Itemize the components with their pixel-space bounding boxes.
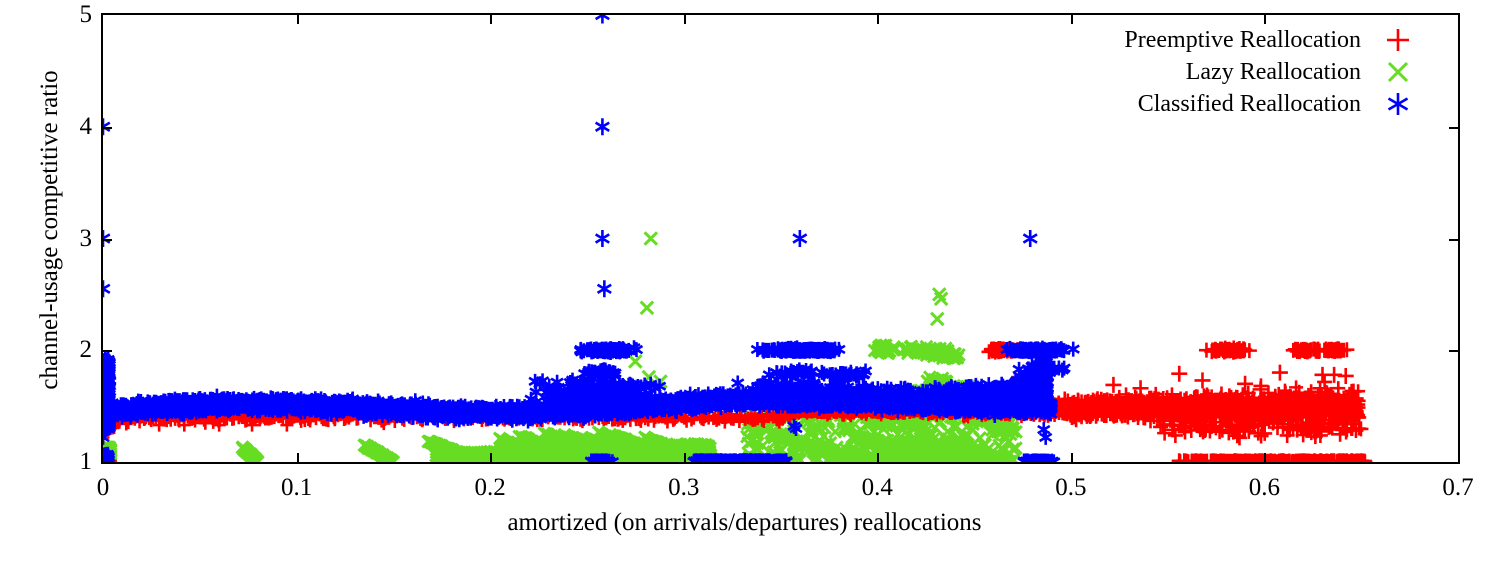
legend-entry-label: Classified Reallocation <box>1138 91 1361 118</box>
x-tick-mark <box>297 15 299 24</box>
y-tick-label: 5 <box>80 1 93 29</box>
chart-root: 12345 channel-usage competitive ratio 00… <box>0 0 1489 562</box>
legend-entry-label: Lazy Reallocation <box>1186 59 1361 86</box>
x-tick-label: 0.4 <box>862 474 893 502</box>
y-tick-label: 3 <box>80 225 93 253</box>
legend-entry[interactable]: Lazy Reallocation <box>1080 58 1435 86</box>
x-tick-mark <box>877 453 879 462</box>
y-tick-mark <box>1449 350 1458 352</box>
series-classified-reallocation <box>103 15 1079 462</box>
legend-entry-label: Preemptive Reallocation <box>1124 27 1361 54</box>
x-tick-mark <box>1071 453 1073 462</box>
x-tick-mark <box>877 15 879 24</box>
x-tick-label: 0 <box>97 474 110 502</box>
asterisk-marker-icon <box>1361 90 1435 118</box>
y-tick-label: 1 <box>80 448 93 476</box>
y-tick-mark <box>103 350 112 352</box>
x-tick-mark <box>297 453 299 462</box>
y-tick-mark <box>103 239 112 241</box>
y-tick-mark <box>103 127 112 129</box>
legend-entry[interactable]: Classified Reallocation <box>1080 90 1435 118</box>
x-tick-mark <box>1071 15 1073 24</box>
x-tick-label: 0.1 <box>281 474 312 502</box>
y-tick-mark <box>1449 127 1458 129</box>
y-axis-title: channel-usage competitive ratio <box>36 20 64 440</box>
x-tick-mark <box>490 15 492 24</box>
x-tick-mark <box>684 15 686 24</box>
x-tick-mark <box>1264 15 1266 24</box>
y-tick-label: 4 <box>80 113 93 141</box>
legend-entry[interactable]: Preemptive Reallocation <box>1080 26 1435 54</box>
x-tick-label: 0.2 <box>475 474 506 502</box>
x-tick-label: 0.7 <box>1442 474 1473 502</box>
plus-marker-icon <box>1361 26 1435 54</box>
cross-marker-icon <box>1361 58 1435 86</box>
x-tick-label: 0.5 <box>1055 474 1086 502</box>
series-lazy-reallocation <box>103 232 1022 462</box>
x-tick-mark <box>490 453 492 462</box>
x-tick-mark <box>684 453 686 462</box>
x-tick-mark <box>1264 453 1266 462</box>
y-tick-label: 2 <box>80 336 93 364</box>
x-axis-tick-labels: 00.10.20.30.40.50.60.7 <box>0 474 1489 508</box>
x-axis-title: amortized (on arrivals/departures) reall… <box>0 509 1489 537</box>
x-tick-label: 0.6 <box>1249 474 1280 502</box>
y-tick-mark <box>1449 239 1458 241</box>
x-tick-label: 0.3 <box>668 474 699 502</box>
chart-legend: Preemptive ReallocationLazy Reallocation… <box>1080 26 1435 118</box>
